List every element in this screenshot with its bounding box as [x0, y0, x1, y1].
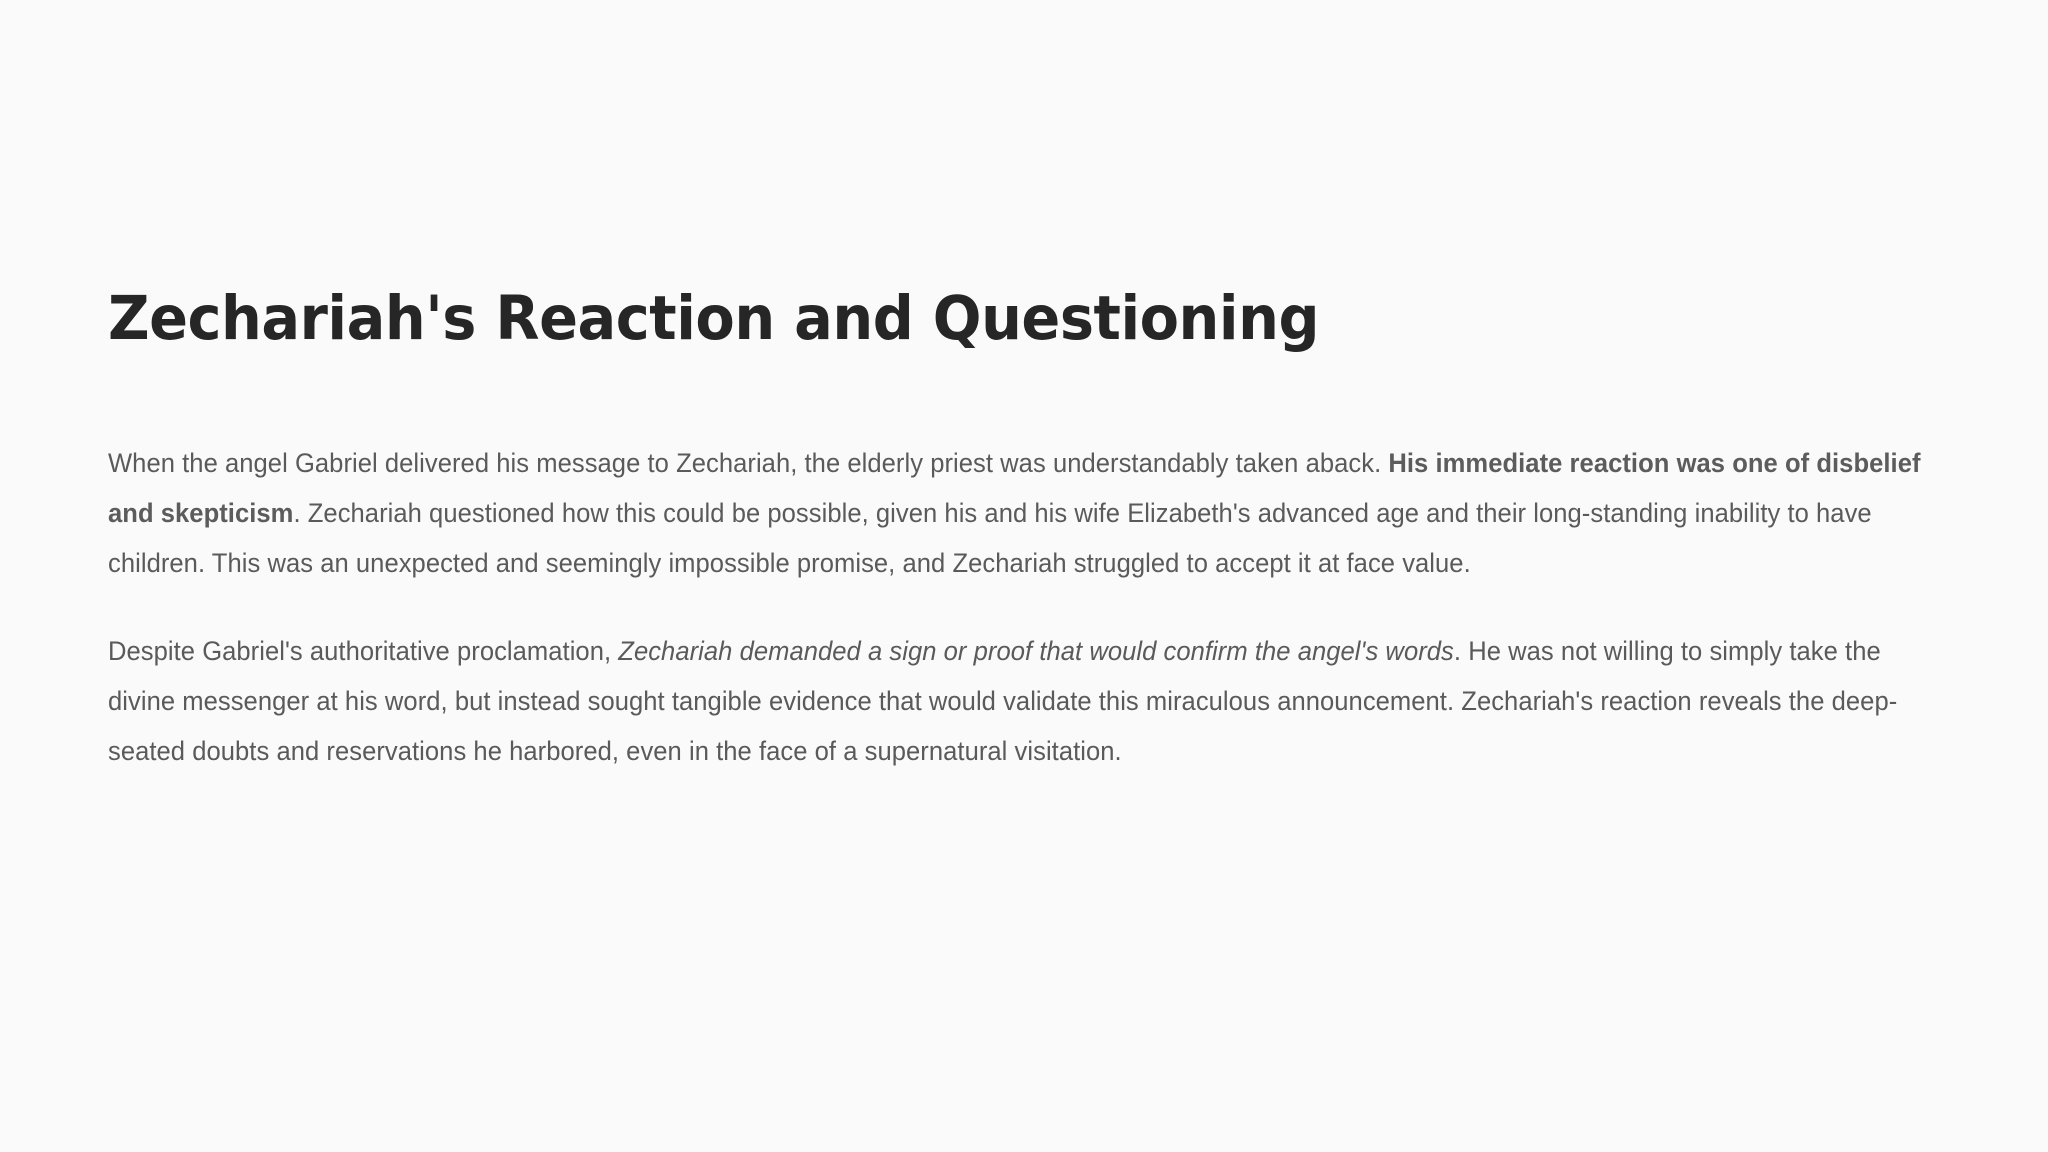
- text-run: . Zechariah questioned how this could be…: [108, 498, 1872, 578]
- text-run: When the angel Gabriel delivered his mes…: [108, 448, 1388, 478]
- text-run: Despite Gabriel's authoritative proclama…: [108, 636, 618, 666]
- paragraph-1: When the angel Gabriel delivered his mes…: [108, 438, 1949, 588]
- article-body: When the angel Gabriel delivered his mes…: [108, 438, 1950, 776]
- page-title: Zechariah's Reaction and Questioning: [108, 283, 1319, 355]
- paragraph-2: Despite Gabriel's authoritative proclama…: [108, 626, 1949, 776]
- document-page: Zechariah's Reaction and Questioning Whe…: [0, 0, 2048, 1152]
- emphasis-italic: Zechariah demanded a sign or proof that …: [618, 636, 1454, 666]
